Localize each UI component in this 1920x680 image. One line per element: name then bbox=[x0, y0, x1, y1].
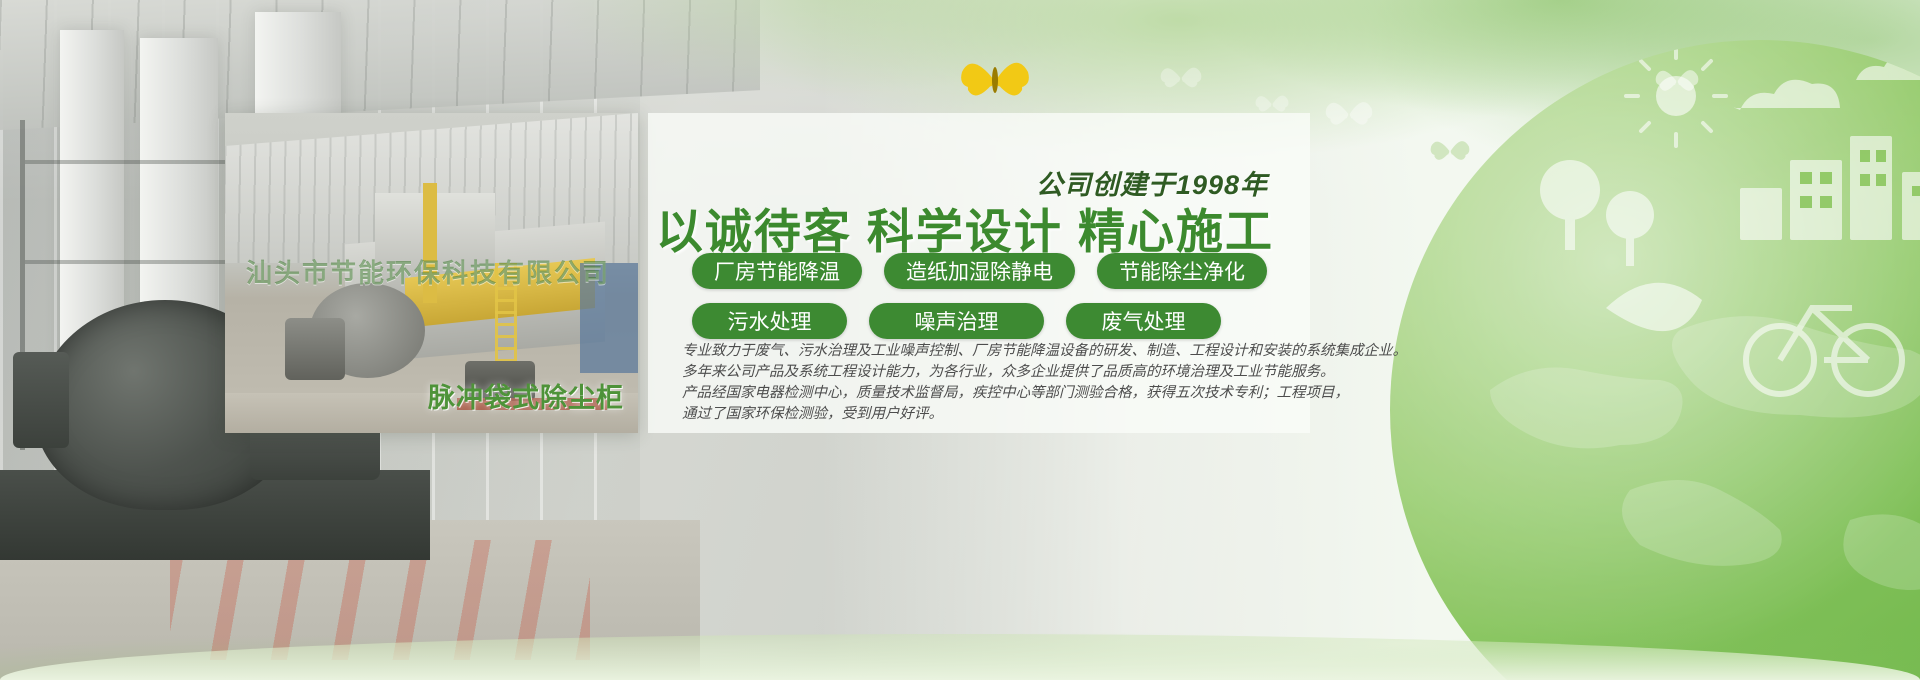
service-pill-sewage[interactable]: 污水处理 bbox=[692, 303, 847, 339]
photo-fan-inlet bbox=[285, 318, 345, 380]
content-panel: 公司创建于1998年 以诚待客 科学设计 精心施工 厂房节能降温 造纸加湿除静电… bbox=[648, 113, 1310, 433]
description-line: 产品经国家电器检测中心，质量技术监督局，疾控中心等部门测验合格，获得五次技术专利… bbox=[682, 383, 1310, 404]
description-line: 多年来公司产品及系统工程设计能力，为各行业，众多企业提供了品质高的环境治理及工业… bbox=[682, 362, 1310, 383]
promo-banner: 汕头市节能环保科技有限公司 脉冲袋式除尘柜 公司创建于1998年 以诚待客 科学… bbox=[0, 0, 1920, 680]
service-pill-dust-purify[interactable]: 节能除尘净化 bbox=[1097, 253, 1267, 289]
description-block: 专业致力于废气、污水治理及工业噪声控制、厂房节能降温设备的研发、制造、工程设计和… bbox=[682, 341, 1310, 425]
service-pill-waste-gas[interactable]: 废气处理 bbox=[1066, 303, 1221, 339]
service-pill-paper-humidify[interactable]: 造纸加湿除静电 bbox=[884, 253, 1075, 289]
service-pill-noise[interactable]: 噪声治理 bbox=[869, 303, 1044, 339]
description-line: 通过了国家环保检测验，受到用户好评。 bbox=[682, 404, 1310, 425]
service-pill-list: 厂房节能降温 造纸加湿除静电 节能除尘净化 污水处理 噪声治理 废气处理 bbox=[692, 253, 1292, 339]
product-photo-card: 汕头市节能环保科技有限公司 脉冲袋式除尘柜 bbox=[225, 113, 638, 433]
photo-caption: 脉冲袋式除尘柜 bbox=[428, 376, 624, 415]
service-pill-factory-cooling[interactable]: 厂房节能降温 bbox=[692, 253, 862, 289]
photo-watermark: 汕头市节能环保科技有限公司 bbox=[225, 253, 638, 290]
world-map-silhouette bbox=[1430, 270, 1920, 650]
headline: 以诚待客 科学设计 精心施工 bbox=[656, 193, 1274, 262]
description-line: 专业致力于废气、污水治理及工业噪声控制、厂房节能降温设备的研发、制造、工程设计和… bbox=[682, 341, 1310, 362]
